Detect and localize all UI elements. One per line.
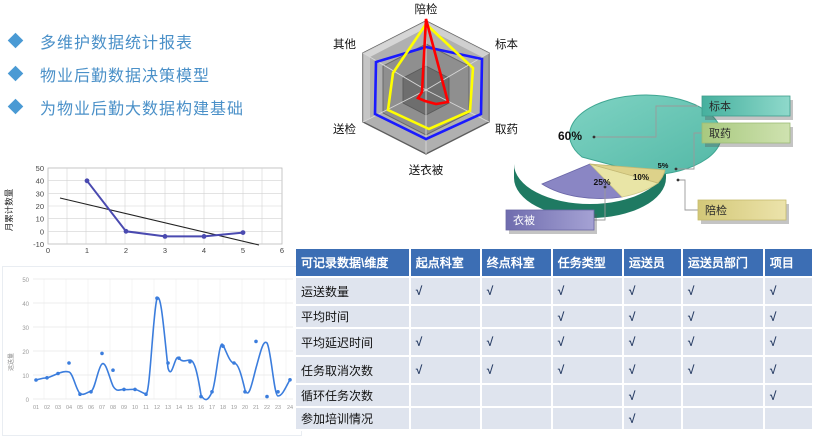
svg-text:0: 0 <box>46 246 50 255</box>
svg-text:15: 15 <box>187 405 193 411</box>
cell-empty[interactable] <box>410 305 481 328</box>
svg-text:陪检: 陪检 <box>415 2 438 16</box>
pie-legend-biaoben[interactable]: 标本 <box>702 96 793 120</box>
svg-text:3: 3 <box>163 246 167 255</box>
slide-canvas: 多维护数据统计报表 物业后勤数据决策模型 为物业后勤大数据构建基础 月累计数量 … <box>0 0 813 438</box>
svg-text:13: 13 <box>165 405 171 411</box>
cell-check[interactable]: √ <box>481 328 552 356</box>
svg-text:5: 5 <box>241 246 245 255</box>
cell-empty[interactable] <box>552 407 623 430</box>
x-axis-ticks: 01 02 03 04 05 06 07 08 09 10 11 12 13 1… <box>33 405 293 411</box>
table-row[interactable]: 运送数量 √ √ √ √ √ √ <box>296 277 812 305</box>
task-share-pie-chart: 60% 25% 10% 5% <box>498 84 813 246</box>
table-row[interactable]: 平均延迟时间 √ √ √ √ √ √ <box>296 328 812 356</box>
table-header-row: 可记录数据\维度 起点科室 终点科室 任务类型 运送员 运送员部门 项目 <box>296 249 812 277</box>
svg-text:05: 05 <box>77 405 83 411</box>
cell-check[interactable]: √ <box>552 356 623 384</box>
y-axis-ticks: 50 40 30 20 10 0 -10 <box>33 164 44 249</box>
svg-text:08: 08 <box>110 405 116 411</box>
svg-text:17: 17 <box>209 405 215 411</box>
svg-text:01: 01 <box>33 405 39 411</box>
pie-legend-yibei[interactable]: 衣被 <box>506 210 597 234</box>
hourly-volume-chart: 运送量 50 40 30 20 10 0 <box>2 266 302 436</box>
col-header-metric[interactable]: 可记录数据\维度 <box>296 249 410 277</box>
pie-legend-quyao[interactable]: 取药 <box>702 123 793 147</box>
pie-legend-label: 标本 <box>709 99 731 113</box>
list-item: 物业后勤数据决策模型 <box>0 57 300 90</box>
svg-text:2: 2 <box>124 246 128 255</box>
plot-grid <box>48 168 282 244</box>
cell-check[interactable]: √ <box>481 356 552 384</box>
svg-text:19: 19 <box>231 405 237 411</box>
plot-grid <box>33 279 293 399</box>
svg-text:4: 4 <box>202 246 206 255</box>
svg-text:10: 10 <box>22 374 29 380</box>
cell-check[interactable]: √ <box>682 356 764 384</box>
hourly-chart-svg: 运送量 50 40 30 20 10 0 <box>3 267 301 435</box>
svg-text:12: 12 <box>154 405 160 411</box>
svg-text:30: 30 <box>36 189 44 198</box>
bullet-label: 物业后勤数据决策模型 <box>40 62 210 86</box>
row-label: 参加培训情况 <box>296 407 410 430</box>
svg-text:06: 06 <box>88 405 94 411</box>
pie-legend-peijian[interactable]: 陪检 <box>698 200 789 224</box>
pie-slice-biaoben <box>570 95 722 175</box>
svg-text:60%: 60% <box>558 129 582 143</box>
list-item: 多维护数据统计报表 <box>0 24 300 57</box>
cell-check[interactable]: √ <box>552 328 623 356</box>
cell-check[interactable]: √ <box>552 305 623 328</box>
svg-text:07: 07 <box>99 405 105 411</box>
svg-text:1: 1 <box>85 246 89 255</box>
svg-text:21: 21 <box>253 405 259 411</box>
bullet-label: 多维护数据统计报表 <box>40 29 193 53</box>
svg-text:09: 09 <box>121 405 127 411</box>
svg-text:03: 03 <box>55 405 61 411</box>
svg-text:10: 10 <box>132 405 138 411</box>
cell-check[interactable]: √ <box>410 356 481 384</box>
cell-check[interactable]: √ <box>764 328 812 356</box>
diamond-icon <box>8 66 24 82</box>
svg-text:10%: 10% <box>633 173 649 182</box>
y-axis-title: 运送量 <box>7 353 15 371</box>
pie-legend-label: 陪检 <box>705 203 727 217</box>
col-header-dest[interactable]: 终点科室 <box>481 249 552 277</box>
svg-text:25%: 25% <box>593 177 610 187</box>
svg-text:20: 20 <box>22 350 29 356</box>
table: 可记录数据\维度 起点科室 终点科室 任务类型 运送员 运送员部门 项目 运送数… <box>296 249 812 431</box>
svg-text:6: 6 <box>280 246 284 255</box>
diamond-icon <box>8 99 24 115</box>
cell-check[interactable]: √ <box>623 356 682 384</box>
row-label: 任务取消次数 <box>296 356 410 384</box>
cell-empty[interactable] <box>682 407 764 430</box>
col-header-origin[interactable]: 起点科室 <box>410 249 481 277</box>
hourly-series-line <box>36 298 290 400</box>
cell-check[interactable]: √ <box>764 384 812 407</box>
pie-chart-svg: 60% 25% 10% 5% <box>498 84 813 246</box>
bullet-label: 为物业后勤大数据构建基础 <box>40 95 244 119</box>
table-body: 运送数量 √ √ √ √ √ √ 平均时间 √ √ √ √ <box>296 277 812 430</box>
svg-text:18: 18 <box>220 405 226 411</box>
table-row[interactable]: 平均时间 √ √ √ √ <box>296 305 812 328</box>
cell-empty[interactable] <box>481 305 552 328</box>
cell-check[interactable]: √ <box>481 277 552 305</box>
svg-text:16: 16 <box>198 405 204 411</box>
col-header-tasktype[interactable]: 任务类型 <box>552 249 623 277</box>
hourly-series-points <box>34 296 292 398</box>
cell-check[interactable]: √ <box>682 328 764 356</box>
bullet-list: 多维护数据统计报表 物业后勤数据决策模型 为物业后勤大数据构建基础 <box>0 24 300 123</box>
svg-text:02: 02 <box>44 405 50 411</box>
row-label: 平均时间 <box>296 305 410 328</box>
monthly-chart-svg: 月累计数量 50 40 30 20 10 0 -10 <box>2 158 300 262</box>
cell-empty[interactable] <box>410 384 481 407</box>
y-axis-ticks: 50 40 30 20 10 0 <box>22 278 29 404</box>
cell-check[interactable]: √ <box>623 277 682 305</box>
cell-check[interactable]: √ <box>764 277 812 305</box>
svg-text:20: 20 <box>242 405 248 411</box>
cell-empty[interactable] <box>682 384 764 407</box>
pie-legend-label: 衣被 <box>513 213 535 227</box>
svg-text:20: 20 <box>36 202 44 211</box>
svg-text:送检: 送检 <box>333 122 356 136</box>
table-row[interactable]: 任务取消次数 √ √ √ √ √ √ <box>296 356 812 384</box>
y-axis-title: 月累计数量 <box>4 188 14 231</box>
cell-empty[interactable] <box>481 407 552 430</box>
table-row[interactable]: 参加培训情况 √ <box>296 407 812 430</box>
cell-check[interactable]: √ <box>410 328 481 356</box>
svg-text:14: 14 <box>176 405 182 411</box>
svg-text:标本: 标本 <box>495 37 518 51</box>
cell-empty[interactable] <box>552 384 623 407</box>
col-header-project[interactable]: 项目 <box>764 249 812 277</box>
svg-text:04: 04 <box>66 405 72 411</box>
table-row[interactable]: 循环任务次数 √ √ <box>296 384 812 407</box>
row-label: 运送数量 <box>296 277 410 305</box>
svg-text:50: 50 <box>36 164 44 173</box>
cell-check[interactable]: √ <box>682 277 764 305</box>
cell-check[interactable]: √ <box>623 407 682 430</box>
cell-check[interactable]: √ <box>623 384 682 407</box>
monthly-cumulative-chart: 月累计数量 50 40 30 20 10 0 -10 <box>2 158 300 262</box>
col-header-dept[interactable]: 运送员部门 <box>682 249 764 277</box>
cell-empty[interactable] <box>410 407 481 430</box>
svg-text:10: 10 <box>36 215 44 224</box>
row-label: 循环任务次数 <box>296 384 410 407</box>
cell-check[interactable]: √ <box>410 277 481 305</box>
cell-check[interactable]: √ <box>623 305 682 328</box>
svg-text:0: 0 <box>40 227 44 236</box>
cell-check[interactable]: √ <box>552 277 623 305</box>
pie-legend-label: 取药 <box>709 127 731 140</box>
svg-text:22: 22 <box>264 405 270 411</box>
svg-text:5%: 5% <box>658 161 669 170</box>
cell-empty[interactable] <box>764 407 812 430</box>
svg-text:40: 40 <box>22 302 29 308</box>
svg-text:0: 0 <box>26 398 30 404</box>
row-label: 平均延迟时间 <box>296 328 410 356</box>
diamond-icon <box>8 33 24 49</box>
dimension-matrix-table: 可记录数据\维度 起点科室 终点科室 任务类型 运送员 运送员部门 项目 运送数… <box>296 249 812 431</box>
svg-text:30: 30 <box>22 326 29 332</box>
x-axis-ticks: 0 1 2 3 4 5 6 <box>46 246 284 255</box>
svg-text:其他: 其他 <box>333 38 356 51</box>
svg-text:-10: -10 <box>33 240 44 249</box>
cell-empty[interactable] <box>481 384 552 407</box>
svg-text:23: 23 <box>275 405 281 411</box>
list-item: 为物业后勤大数据构建基础 <box>0 90 300 123</box>
cell-check[interactable]: √ <box>764 356 812 384</box>
svg-text:24: 24 <box>287 405 293 411</box>
svg-text:送衣被: 送衣被 <box>409 163 444 177</box>
cell-check[interactable]: √ <box>682 305 764 328</box>
svg-text:11: 11 <box>143 405 149 411</box>
col-header-courier[interactable]: 运送员 <box>623 249 682 277</box>
svg-text:50: 50 <box>22 278 29 284</box>
svg-text:40: 40 <box>36 177 44 186</box>
cell-check[interactable]: √ <box>764 305 812 328</box>
cell-check[interactable]: √ <box>623 328 682 356</box>
